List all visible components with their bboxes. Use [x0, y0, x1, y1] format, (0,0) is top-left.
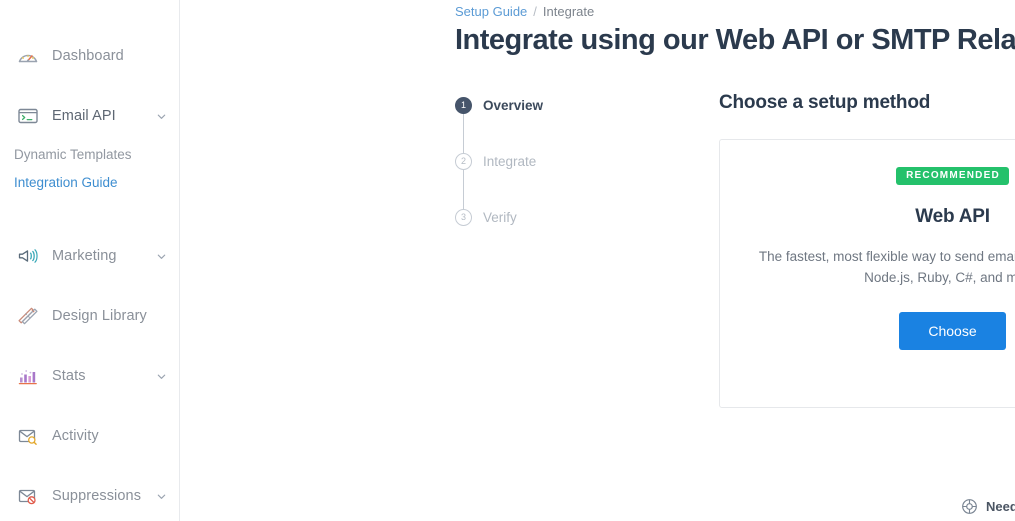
sidebar-item-email-api[interactable]: Email API: [0, 86, 179, 146]
sidebar-item-activity[interactable]: Activity: [0, 406, 179, 466]
lifebuoy-icon: [961, 498, 978, 515]
sidebar-item-label: Design Library: [52, 308, 147, 324]
stepper-connector: [463, 114, 464, 153]
sidebar-item-stats[interactable]: Stats: [0, 346, 179, 406]
bar-chart-icon: [14, 362, 42, 390]
sidebar-item-label: Suppressions: [52, 488, 141, 504]
sidebar-item-integration-guide[interactable]: Integration Guide: [0, 168, 179, 196]
card-title: Web API: [915, 206, 990, 228]
page-title: Integrate using our Web API or SMTP Rela…: [455, 24, 1015, 57]
breadcrumb-link-setup-guide[interactable]: Setup Guide: [455, 4, 527, 19]
sidebar-item-dashboard[interactable]: Dashboard: [0, 26, 179, 86]
stepper-step-label: Verify: [483, 209, 517, 226]
status-badge: RECOMMENDED: [896, 167, 1009, 185]
breadcrumb-separator: /: [533, 4, 537, 19]
chevron-down-icon[interactable]: [155, 110, 167, 122]
stepper-step-label: Integrate: [483, 153, 536, 170]
sidebar-item-suppressions[interactable]: Suppressions: [0, 466, 179, 521]
setup-stepper: 1 Overview 2 Integrate 3 Verify: [455, 97, 655, 231]
chevron-down-icon[interactable]: [155, 370, 167, 382]
breadcrumb: Setup Guide / Integrate: [455, 4, 594, 19]
sidebar-item-label: Stats: [52, 368, 86, 384]
chevron-down-icon[interactable]: [155, 250, 167, 262]
gauge-icon: [14, 42, 42, 70]
web-api-card[interactable]: RECOMMENDED Web API The fastest, most fl…: [719, 139, 1015, 408]
sidebar-item-marketing[interactable]: Marketing: [0, 226, 179, 286]
megaphone-icon: [14, 242, 42, 270]
choose-button[interactable]: Choose: [899, 312, 1006, 350]
card-description: The fastest, most flexible way to send e…: [758, 246, 1015, 288]
stepper-step-integrate[interactable]: 2 Integrate: [455, 153, 655, 209]
stepper-connector: [463, 170, 464, 209]
sidebar-item-label: Email API: [52, 108, 116, 124]
stepper-step-number: 1: [455, 97, 472, 114]
main-content: Setup Guide / Integrate Integrate using …: [180, 0, 1015, 521]
sidebar: Dashboard Email API Dynamic Templates: [0, 0, 180, 521]
app-root: Dashboard Email API Dynamic Templates: [0, 0, 1015, 521]
terminal-icon: [14, 102, 42, 130]
setup-method-panel: Choose a setup method RECOMMENDED Web AP…: [719, 92, 1015, 408]
breadcrumb-current-integrate: Integrate: [543, 4, 594, 19]
help-text: Need help setting this up?: [986, 499, 1015, 514]
chevron-down-icon[interactable]: [155, 490, 167, 502]
help-footer: Need help setting this up? Invite a: [961, 498, 1015, 515]
stepper-step-label: Overview: [483, 97, 543, 114]
sidebar-subitem-label: Dynamic Templates: [14, 147, 132, 162]
envelope-blocked-icon: [14, 482, 42, 510]
stepper-step-verify[interactable]: 3 Verify: [455, 209, 655, 231]
sidebar-item-label: Marketing: [52, 248, 117, 264]
sidebar-subitem-label: Integration Guide: [14, 175, 118, 190]
sidebar-item-design-library[interactable]: Design Library: [0, 286, 179, 346]
envelope-search-icon: [14, 422, 42, 450]
panel-title: Choose a setup method: [719, 92, 1015, 114]
stepper-step-number: 2: [455, 153, 472, 170]
sidebar-item-label: Activity: [52, 428, 99, 444]
stepper-step-number: 3: [455, 209, 472, 226]
pencil-ruler-icon: [14, 302, 42, 330]
sidebar-item-label: Dashboard: [52, 48, 124, 64]
stepper-step-overview[interactable]: 1 Overview: [455, 97, 655, 153]
